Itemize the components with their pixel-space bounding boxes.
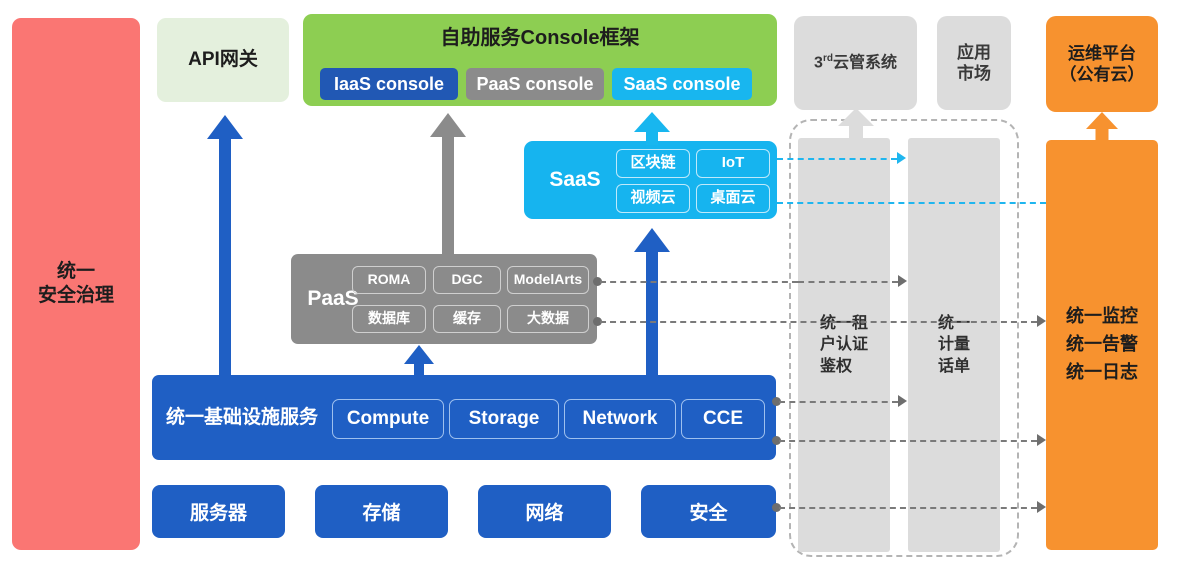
- ops-monitor-label: 统一监控 统一告警 统一日志: [1066, 303, 1138, 387]
- hardware-item-network[interactable]: 网络: [478, 485, 611, 538]
- infrastructure-label: 统一基础设施服务: [166, 375, 318, 460]
- arrow-infra-to-api-gateway: [207, 115, 243, 377]
- paas-service-bigdata[interactable]: 大数据: [507, 305, 589, 333]
- arrow-shared-to-third-party-cloud: [838, 108, 874, 138]
- saas-console-chip[interactable]: SaaS console: [612, 68, 752, 100]
- saas-service-desktop-cloud[interactable]: 桌面云: [696, 184, 770, 213]
- third-party-superscript: rd: [823, 53, 833, 64]
- iaas-console-chip[interactable]: IaaS console: [320, 68, 458, 100]
- ops-monitor-box: 统一监控 统一告警 统一日志: [1046, 140, 1158, 550]
- dashed-infra-to-ops-monitor: [779, 440, 1037, 442]
- arrow-infra-to-saas: [634, 228, 670, 378]
- paas-service-cache[interactable]: 缓存: [433, 305, 501, 333]
- api-gateway-box: API网关: [157, 18, 289, 102]
- diagram-canvas: 统一 安全治理 API网关 自助服务Console框架 IaaS console…: [0, 0, 1200, 574]
- security-governance-panel: 统一 安全治理: [12, 18, 140, 550]
- hardware-item-server[interactable]: 服务器: [152, 485, 285, 538]
- ops-platform-label: 运维平台 （公有云）: [1060, 43, 1145, 86]
- app-market-box: 应用 市场: [937, 16, 1011, 110]
- infra-service-network[interactable]: Network: [564, 399, 676, 439]
- paas-block: PaaS ROMA DGC ModelArts 数据库 缓存 大数据: [291, 254, 597, 344]
- dashed-saas-to-auth: [777, 158, 897, 160]
- ops-platform-box: 运维平台 （公有云）: [1046, 16, 1158, 112]
- arrow-paas-to-console: [430, 113, 466, 258]
- paas-service-dgc[interactable]: DGC: [433, 266, 501, 294]
- third-party-suffix: 云管系统: [833, 54, 897, 71]
- dashed-infra-to-ops-monitor-arrowhead: [1037, 434, 1046, 446]
- infra-service-cce[interactable]: CCE: [681, 399, 765, 439]
- dashed-infra-to-billing-arrowhead: [898, 395, 907, 407]
- dashed-paas-to-auth: [600, 281, 798, 283]
- third-party-prefix: 3: [814, 54, 823, 71]
- infrastructure-bar: 统一基础设施服务 Compute Storage Network CCE: [152, 375, 776, 460]
- arrow-hardware-to-infra: [404, 345, 434, 379]
- hardware-item-storage[interactable]: 存储: [315, 485, 448, 538]
- dashed-saas-to-auth-arrowhead: [897, 152, 906, 164]
- saas-service-video-cloud[interactable]: 视频云: [616, 184, 690, 213]
- saas-service-blockchain[interactable]: 区块链: [616, 149, 690, 178]
- dashed-infra-to-billing: [779, 401, 898, 403]
- dashed-saas-to-ops-monitor: [777, 202, 1046, 204]
- dashed-hardware-to-ops-monitor: [779, 507, 1037, 509]
- dashed-hardware-to-ops-monitor-arrowhead: [1037, 501, 1046, 513]
- paas-service-database[interactable]: 数据库: [352, 305, 426, 333]
- saas-service-iot[interactable]: IoT: [696, 149, 770, 178]
- console-framework-title: 自助服务Console框架: [303, 14, 777, 62]
- dashed-auth-to-billing-upper: [798, 281, 898, 283]
- saas-block: SaaS 区块链 IoT 视频云 桌面云: [524, 141, 777, 219]
- api-gateway-label: API网关: [188, 48, 258, 72]
- app-market-label: 应用 市场: [957, 42, 991, 85]
- saas-label: SaaS: [536, 141, 614, 219]
- arrow-saas-to-console: [634, 112, 670, 145]
- paas-service-roma[interactable]: ROMA: [352, 266, 426, 294]
- dashed-paas-to-ops-monitor-arrowhead: [1037, 315, 1046, 327]
- hardware-item-security[interactable]: 安全: [641, 485, 776, 538]
- infra-service-storage[interactable]: Storage: [449, 399, 559, 439]
- paas-console-chip[interactable]: PaaS console: [466, 68, 604, 100]
- infra-service-compute[interactable]: Compute: [332, 399, 444, 439]
- dashed-paas-to-ops-monitor: [600, 321, 1037, 323]
- shared-service-billing-column: 统一 计量 话单: [908, 138, 1000, 552]
- shared-service-auth-column: 统一租 户认证 鉴权: [798, 138, 890, 552]
- third-party-cloud-box: 3rd云管系统: [794, 16, 917, 110]
- dashed-auth-to-billing-upper-arrowhead: [898, 275, 907, 287]
- security-governance-label: 统一 安全治理: [38, 260, 114, 308]
- paas-service-modelarts[interactable]: ModelArts: [507, 266, 589, 294]
- console-framework-box: 自助服务Console框架 IaaS console PaaS console …: [303, 14, 777, 106]
- third-party-cloud-label: 3rd云管系统: [814, 53, 897, 73]
- arrow-monitor-to-ops-platform: [1086, 112, 1118, 142]
